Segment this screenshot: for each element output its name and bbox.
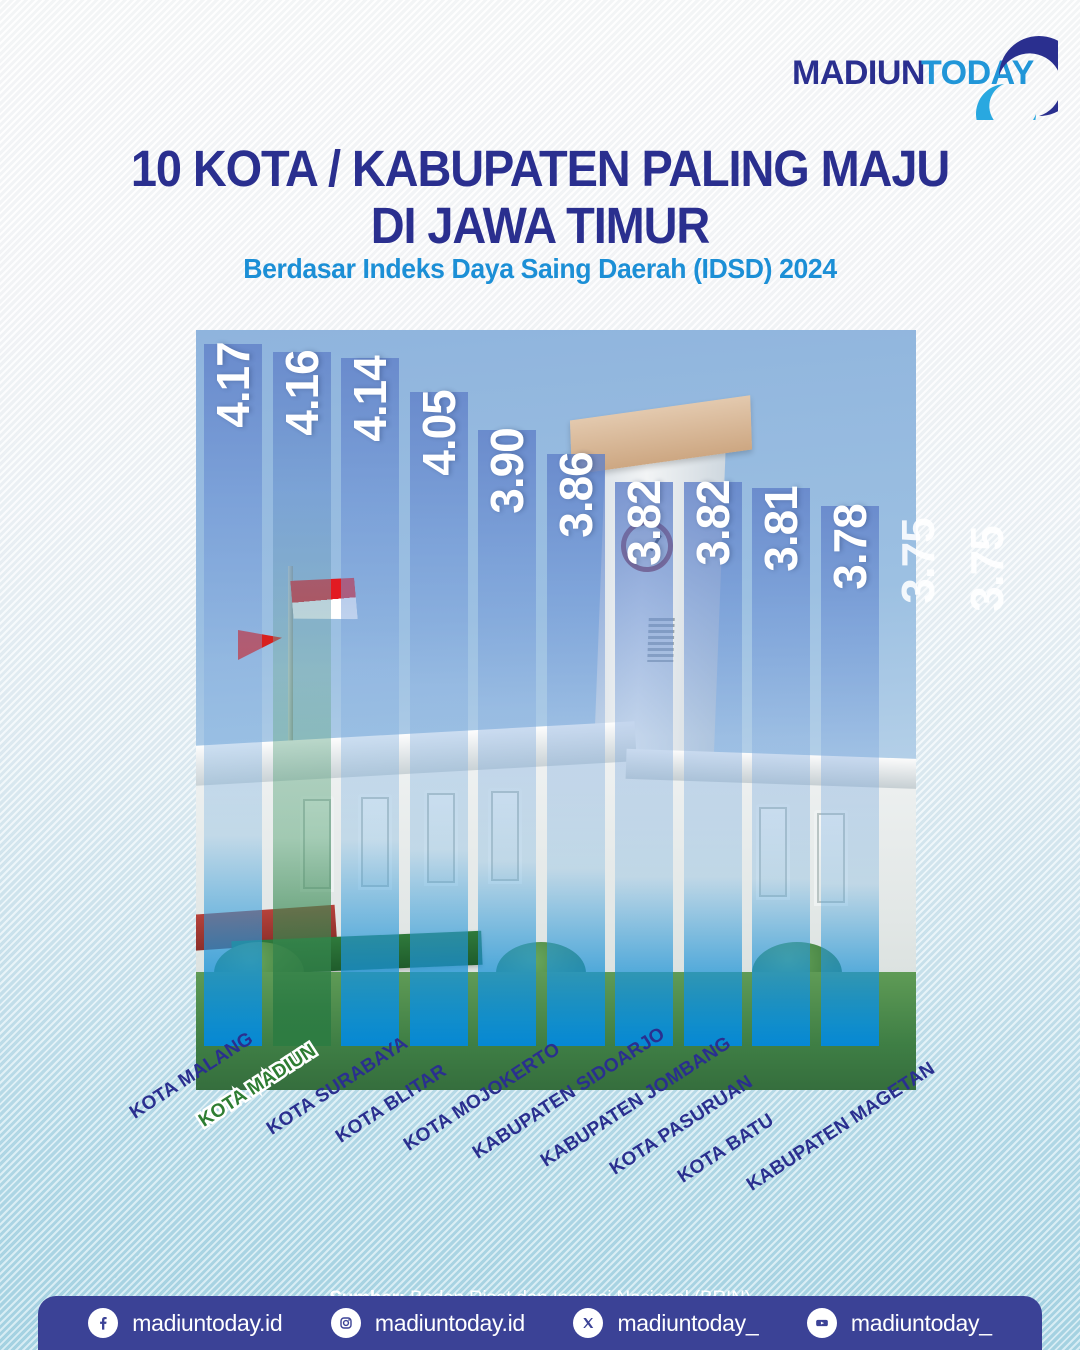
title-line-2: DI JAWA TIMUR bbox=[43, 197, 1037, 254]
social-handle: madiuntoday.id bbox=[375, 1310, 525, 1337]
bar-6: 3.86 bbox=[547, 454, 605, 1046]
title-line-1: 10 KOTA / KABUPATEN PALING MAJU bbox=[131, 140, 949, 197]
x-twitter-icon[interactable] bbox=[573, 1308, 603, 1338]
bar-value-label: 3.75 bbox=[891, 518, 945, 604]
social-link-x-twitter[interactable]: madiuntoday_ bbox=[573, 1308, 758, 1338]
bar-1: 4.17 bbox=[204, 344, 262, 1046]
instagram-icon[interactable] bbox=[331, 1308, 361, 1338]
bar-11: 3.75 bbox=[889, 520, 947, 1046]
bar-8: 3.82 bbox=[684, 482, 742, 1046]
social-link-facebook[interactable]: madiuntoday.id bbox=[88, 1308, 282, 1338]
bar-9: 3.81 bbox=[752, 488, 810, 1046]
social-handle: madiuntoday.id bbox=[132, 1310, 282, 1337]
social-handle: madiuntoday_ bbox=[851, 1310, 992, 1337]
facebook-icon[interactable] bbox=[88, 1308, 118, 1338]
bar-12: 3.75 bbox=[958, 528, 1016, 1046]
bar-value-label: 3.81 bbox=[754, 486, 808, 572]
social-handle: madiuntoday_ bbox=[617, 1310, 758, 1337]
social-link-instagram[interactable]: madiuntoday.id bbox=[331, 1308, 525, 1338]
bar-value-label: 3.78 bbox=[823, 504, 877, 590]
bar-value-label: 4.05 bbox=[412, 390, 466, 476]
logo-text-madiun: MADIUN bbox=[792, 54, 925, 92]
bar-7: 3.82 bbox=[615, 482, 673, 1046]
page-title: 10 KOTA / KABUPATEN PALING MAJU DI JAWA … bbox=[43, 140, 1037, 254]
category-axis: KOTA MALANGKOTA MADIUNKOTA SURABAYAKOTA … bbox=[0, 1080, 1080, 1240]
bar-10: 3.78 bbox=[821, 506, 879, 1046]
social-link-youtube[interactable]: madiuntoday_ bbox=[807, 1308, 992, 1338]
bar-chart: 4.174.164.144.053.903.863.823.823.813.78… bbox=[0, 330, 1080, 1090]
bar-value-label: 4.16 bbox=[275, 350, 329, 436]
bar-5: 3.90 bbox=[478, 430, 536, 1046]
madiuntoday-logo: MADIUN TODAY bbox=[790, 28, 1058, 120]
bar-value-label: 4.14 bbox=[343, 356, 397, 442]
logo-text-today: TODAY bbox=[921, 54, 1035, 92]
bar-2: 4.16 bbox=[273, 352, 331, 1046]
bar-value-label: 3.90 bbox=[480, 428, 534, 514]
bar-3: 4.14 bbox=[341, 358, 399, 1046]
bar-value-label: 4.17 bbox=[206, 342, 260, 428]
bar-value-label: 3.82 bbox=[686, 480, 740, 566]
page-subtitle: Berdasar Indeks Daya Saing Daerah (IDSD)… bbox=[27, 253, 1053, 285]
bar-series: 4.174.164.144.053.903.863.823.823.813.78… bbox=[0, 330, 1080, 1090]
bar-value-label: 3.75 bbox=[960, 526, 1014, 612]
bar-value-label: 3.86 bbox=[549, 452, 603, 538]
youtube-icon[interactable] bbox=[807, 1308, 837, 1338]
bar-4: 4.05 bbox=[410, 392, 468, 1046]
social-footer-bar: madiuntoday.idmadiuntoday.idmadiuntoday_… bbox=[38, 1296, 1042, 1350]
bar-value-label: 3.82 bbox=[617, 480, 671, 566]
